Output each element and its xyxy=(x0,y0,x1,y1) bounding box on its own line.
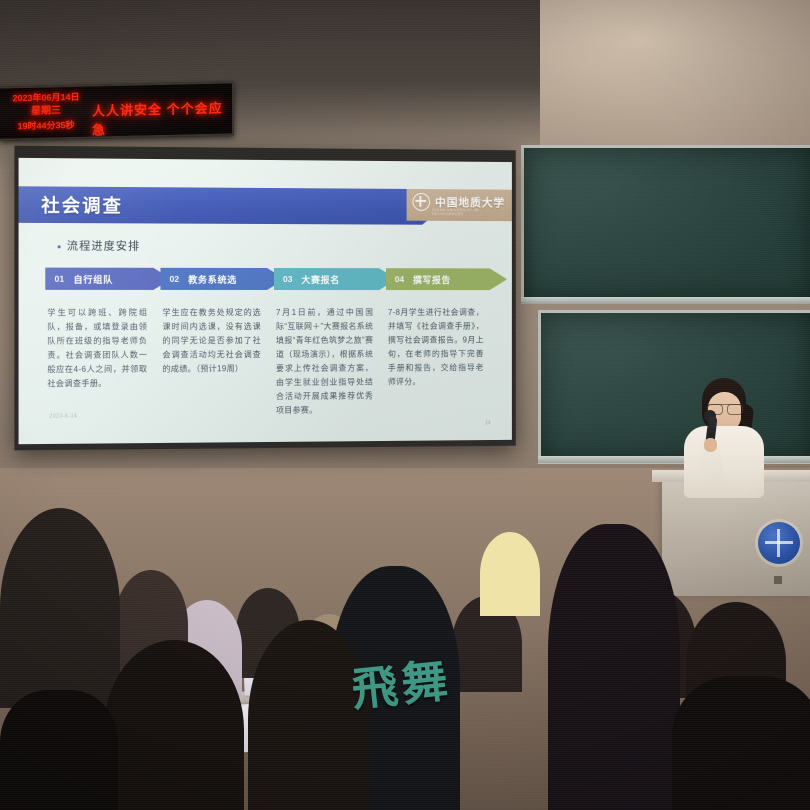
speaker-hand xyxy=(704,438,717,452)
slide-bullet: 流程进度安排 xyxy=(58,237,141,253)
process-step-description-02: 学生应在教务处规定的选课时间内选课，没有选课的同学无论是否参加了社会调查活动均无… xyxy=(162,306,261,377)
shirt-calligraphy-teal: 飛舞 xyxy=(349,653,454,717)
slide-page-number: 14 xyxy=(485,420,490,426)
led-datetime-block: 2023年06月14日 星期三 19时44分35秒 xyxy=(4,90,88,134)
process-arrow-row: 01自行组队02教务系统选03大赛报名04撰写报告 xyxy=(45,268,494,294)
podium-knob xyxy=(774,576,782,584)
process-step-description-01: 学生可以跨班、跨院组队，报备，或填登录由领队所在班级的指导老师负责。社会调查团队… xyxy=(47,306,147,391)
chalk-rail-upper xyxy=(521,297,810,304)
university-crest-icon xyxy=(412,193,430,211)
process-step-description-03: 7月1日前，通过中国国际“互联网＋”大赛报名系统填报“青年红色筑梦之旅”赛道（现… xyxy=(276,306,373,418)
process-text-columns: 学生可以跨班、跨院组队，报备，或填登录由领队所在班级的指导老师负责。社会调查团队… xyxy=(19,158,512,162)
step-number: 04 xyxy=(395,274,404,284)
arrow-body: 02教务系统选 xyxy=(160,268,267,290)
step-number: 02 xyxy=(170,274,180,284)
step-label: 撰写报告 xyxy=(413,273,451,286)
slide-title: 社会调查 xyxy=(41,192,123,219)
arrow-body: 04撰写报告 xyxy=(386,268,490,290)
step-label: 大赛报名 xyxy=(301,273,340,286)
projection-screen: 社会调查 中国地质大学 CHINA UNIVERSITY OF GEOSCIEN… xyxy=(14,146,515,451)
process-step-description-04: 7-8月学生进行社会调查，并填写《社会调查手册》，撰写社会调查报告。9月上旬，在… xyxy=(388,306,484,389)
process-step-arrow-04: 04撰写报告 xyxy=(386,268,507,290)
audience-member-front xyxy=(248,620,370,810)
arrow-tip-icon xyxy=(490,268,507,290)
led-safety-message: 人人讲安全 个个会应急 xyxy=(92,97,232,138)
audience-member xyxy=(0,508,120,708)
audience-member xyxy=(480,532,540,616)
audience-member-front xyxy=(0,690,118,810)
lecture-hall-photo: 2023年06月14日 星期三 19时44分35秒 人人讲安全 个个会应急 社会… xyxy=(0,0,810,810)
led-time: 19时44分35秒 xyxy=(4,118,88,134)
slide-bullet-label: 流程进度安排 xyxy=(67,240,140,252)
university-name-english: CHINA UNIVERSITY OF GEOSCIENCES xyxy=(432,208,512,216)
step-number: 01 xyxy=(55,274,65,284)
step-label: 自行组队 xyxy=(73,272,113,285)
audience-member-front xyxy=(672,676,810,810)
process-step-arrow-03: 03大赛报名 xyxy=(274,268,397,290)
audience-member xyxy=(104,640,244,810)
speaker-torso xyxy=(684,426,764,498)
step-number: 03 xyxy=(283,274,292,284)
step-label: 教务系统选 xyxy=(188,272,237,285)
led-date: 2023年06月14日 xyxy=(4,90,88,106)
arrow-body: 01自行组队 xyxy=(45,268,153,290)
bullet-dot-icon xyxy=(58,245,61,248)
arrow-body: 03大赛报名 xyxy=(274,268,379,290)
speaker-at-podium xyxy=(676,378,772,498)
blackboard-upper xyxy=(521,145,810,303)
presentation-slide: 社会调查 中国地质大学 CHINA UNIVERSITY OF GEOSCIEN… xyxy=(19,158,512,444)
slide-footer-date: 2023-6-14 xyxy=(49,413,77,419)
podium-emblem-icon xyxy=(758,522,800,564)
process-step-arrow-02: 02教务系统选 xyxy=(160,268,285,290)
process-step-arrow-01: 01自行组队 xyxy=(45,268,171,290)
safety-notice-led-ticker: 2023年06月14日 星期三 19时44分35秒 人人讲安全 个个会应急 xyxy=(0,81,234,140)
